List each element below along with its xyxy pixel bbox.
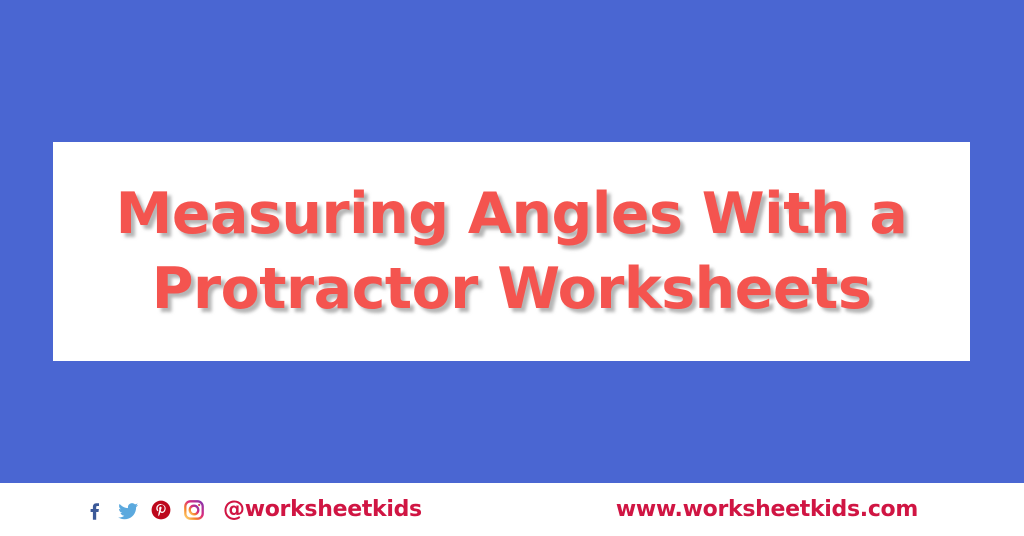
- page-title-line-1: Measuring Angles With a: [116, 177, 908, 251]
- social-handle[interactable]: @worksheetkids: [223, 497, 422, 522]
- twitter-icon[interactable]: [115, 497, 141, 523]
- title-card: Measuring Angles With a Protractor Works…: [53, 142, 970, 361]
- pinterest-icon[interactable]: [148, 497, 174, 523]
- footer-bar: @worksheetkids www.worksheetkids.com: [0, 483, 1024, 536]
- social-links-group: @worksheetkids: [82, 483, 422, 536]
- site-url-group: www.worksheetkids.com: [616, 483, 918, 536]
- site-url[interactable]: www.worksheetkids.com: [616, 497, 918, 522]
- banner-root: Measuring Angles With a Protractor Works…: [0, 0, 1024, 536]
- page-title-line-2: Protractor Worksheets: [152, 252, 872, 326]
- facebook-icon[interactable]: [82, 497, 108, 523]
- instagram-icon[interactable]: [181, 497, 207, 523]
